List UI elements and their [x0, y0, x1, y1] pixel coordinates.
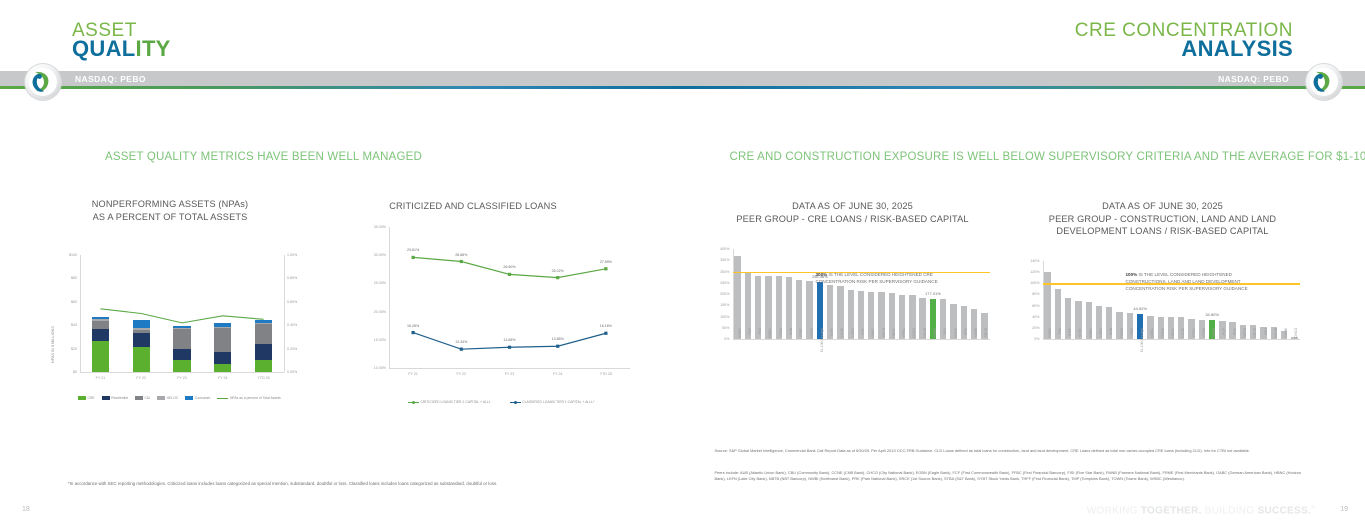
cre_peer-xtick: PRK: [964, 328, 968, 356]
cre_peer-ytick: 100%: [716, 315, 730, 319]
chart-npa-xtick: FY 22: [125, 376, 157, 380]
cld_peer-xtick: FRME: [1161, 328, 1165, 356]
cld_peer-xtick: NBTB: [1243, 328, 1247, 356]
cld_peer-ytick: 40%: [1026, 315, 1040, 319]
chart-criticized-data-label: 27.59%: [595, 260, 617, 264]
cld_peer-xtick: FISI: [1058, 328, 1062, 356]
cre_peer-ytick: 350%: [716, 258, 730, 262]
chart-criticized-legend-item: CLASSIFIED LOANS/ TIER 1 CAPITAL + ALLL*: [510, 400, 595, 404]
cre_peer-xtick: STBA: [779, 328, 783, 356]
cre_peer-xtick: FISI: [758, 328, 762, 356]
legend-dot: [412, 401, 415, 404]
chart-criticized-data-label: 13.68%: [499, 338, 521, 342]
chart-npa-ytick: $20: [64, 347, 77, 351]
chart-npa-bar-segment: [173, 326, 190, 328]
cre_peer-xtick: HBNC: [892, 328, 896, 356]
chart-npa-y2tick: 1.00%: [287, 253, 297, 257]
chart-npa-bar-segment: [214, 352, 231, 363]
chart-npa-legend-item: HELOC: [157, 396, 178, 400]
chart-npa-bar-segment: [214, 364, 231, 372]
chart-npa-bar-segment: [173, 349, 190, 360]
chart-npa-ytick: $0: [64, 370, 77, 374]
callout-cre-300: 300% IS THE LEVEL CONSIDERED HEIGHTENED …: [816, 272, 991, 286]
cld_peer-ytick: 80%: [1026, 292, 1040, 296]
cre_peer-ytick: 400%: [716, 247, 730, 251]
header-bar-accent-right: [683, 86, 1365, 89]
cld_peer-xtick: CBU: [1264, 328, 1268, 356]
chart-npa-bar-segment: [255, 324, 272, 344]
page-title: ASSET QUALITY: [72, 22, 171, 60]
chart-npa-bar-segment: [92, 321, 109, 329]
chart-npa-ytick: $60: [64, 300, 77, 304]
legend-label: CLASSIFIED LOANS/ TIER 1 CAPITAL + ALLL*: [522, 400, 594, 404]
page-title-right: CRE CONCENTRATION ANALYSIS: [1075, 22, 1293, 60]
chart-npa-y2tick: 0.80%: [287, 276, 297, 280]
cre_peer-xtick: FRME: [954, 328, 958, 356]
cld_peer-xtick: CHCO: [1294, 328, 1298, 356]
chart-npa-bar-segment: [92, 319, 109, 320]
chart-npa-bar-segment: [92, 329, 109, 341]
cre_peer-xtick: FMNB: [923, 328, 927, 356]
section-title-asset-quality: ASSET QUALITY METRICS HAVE BEEN WELL MAN…: [105, 151, 422, 163]
chart-criticized-legend-item: CRITICIZED LOANS/ TIER 1 CAPITAL + ALLL: [408, 400, 491, 404]
cld_peer-xtick: NWBI: [1284, 328, 1288, 356]
chart-title-criticized: CRITICIZED AND CLASSIFIED LOANS: [348, 200, 598, 213]
chart-criticized-data-label: 13.34%: [450, 340, 472, 344]
cld_peer-xtick: PRK: [1233, 328, 1237, 356]
cld_peer-xtick: EGBN: [1048, 328, 1052, 356]
chart-npa-bar-segment: [133, 320, 150, 328]
ticker-label-right: NASDAQ: PEBO: [1218, 74, 1289, 84]
chart-npa-bar-segment: [133, 333, 150, 348]
chart-npa-bar-segment: [255, 320, 272, 323]
cld_peer-xtick: $1-10B Average: [1140, 328, 1144, 356]
legend-dot: [514, 401, 517, 404]
chart-criticized-data-label: 13.86%: [547, 337, 569, 341]
cld_peer-ytick: 100%: [1026, 281, 1040, 285]
cld_peer-xtick: FFBC: [1192, 328, 1196, 356]
chart-npa-bar-segment: [92, 317, 109, 319]
cld_peer-xtick: THFF: [1068, 328, 1072, 356]
chart-npa-bar-segment: [214, 327, 231, 328]
cre_peer-ytick: 50%: [716, 326, 730, 330]
chart-npa-bar-segment: [255, 360, 272, 372]
chart-npa-bar-segment: [133, 347, 150, 372]
legend-swatch: [185, 396, 193, 399]
legend-line-swatch: [510, 402, 521, 403]
legend-swatch: [157, 396, 165, 399]
source-note: Source: S&P Global Market Intelligence, …: [715, 448, 1310, 454]
cre_peer-xtick: THFF: [830, 328, 834, 356]
chart-npa-bar-segment: [214, 323, 231, 327]
legend-swatch: [78, 396, 86, 399]
legend-line-swatch: [217, 398, 228, 399]
chart-npa-xtick: FY 21: [84, 376, 116, 380]
cre_peer-xtick: $1-10B Average: [820, 328, 824, 356]
legend-swatch: [135, 396, 143, 399]
chart-npa-y2tick: 0.60%: [287, 300, 297, 304]
cld_peer-xtick: WSBC: [1089, 328, 1093, 356]
legend-swatch: [102, 396, 110, 399]
cre_peer-yaxis: [733, 249, 734, 339]
cre_peer-ytick: 150%: [716, 303, 730, 307]
cre_peer-xtick: AUB: [789, 328, 793, 356]
cre_peer-xtick: FCF: [861, 328, 865, 356]
cld_peer-xtick: CCNE: [1181, 328, 1185, 356]
chart-criticized-lines: [355, 215, 640, 390]
legend-label: CRE: [88, 396, 95, 400]
chart-npa-bar-segment: [255, 323, 272, 324]
cre_peer-xtick: LKFN: [851, 328, 855, 356]
chart-criticized-data-label: 16.16%: [595, 324, 617, 328]
chart-npa-legend-item: Consumer: [185, 396, 210, 400]
cre_peer-xtick: SRCE: [984, 328, 988, 356]
legend-label: NPAs as a percent of Total Assets: [230, 396, 281, 400]
cld_peer-xtick: TMP: [1130, 328, 1134, 356]
chart-criticized-data-label: 28.88%: [450, 253, 472, 257]
chart-npa: NPAS IN $ MILLIONS $0$20$40$60$80$1000.0…: [48, 245, 318, 390]
cre_peer-xtick: CHCO: [912, 328, 916, 356]
cre_peer-xtick: TMP: [748, 328, 752, 356]
cre_peer-xtick: CBU: [943, 328, 947, 356]
chart-npa-ytick: $80: [64, 276, 77, 280]
cld_peer-yaxis: [1043, 261, 1044, 339]
cre_peer-data-label: 177.01%: [921, 291, 945, 296]
slide-asset-quality: ASSET QUALITY NASDAQ: PEBO ASSET QUALITY…: [0, 0, 683, 531]
legend-label: Residential: [111, 396, 128, 400]
chart-npa-xtick: YTD 25: [248, 376, 280, 380]
cre_peer-ytick: 250%: [716, 281, 730, 285]
cld_peer-data-label: 44.52%: [1128, 306, 1152, 311]
header-bar-accent: [0, 86, 683, 89]
cre_peer-xtick: GABC: [871, 328, 875, 356]
chart-criticized-legend: CRITICIZED LOANS/ TIER 1 CAPITAL + ALLLC…: [408, 400, 606, 404]
chart-npa-xtick: FY 24: [207, 376, 239, 380]
cld_peer-xtick: SYBT: [1078, 328, 1082, 356]
page-title-line2: QUALITY: [72, 39, 171, 59]
cre_peer-xtick: EGBN: [738, 328, 742, 356]
chart-title-npa: NONPERFORMING ASSETS (NPAs) AS A PERCENT…: [55, 198, 285, 223]
cld_peer-data-label: 34.80%: [1200, 312, 1224, 317]
callout-cld-100: 100% IS THE LEVEL CONSIDERED HEIGHTENED …: [1126, 272, 1311, 293]
cre_peer-bar: [734, 256, 740, 339]
chart-npa-bar-segment: [133, 330, 150, 333]
slide-cre-concentration: CRE CONCENTRATION ANALYSIS NASDAQ: PEBO …: [683, 0, 1365, 531]
cre_peer-xtick: PEBO: [933, 328, 937, 356]
chart-npa-ytick: $40: [64, 323, 77, 327]
chart-npa-xaxis: [80, 372, 284, 373]
cld_peer-ytick: 60%: [1026, 304, 1040, 308]
chart-npa-bar-segment: [173, 328, 190, 349]
chart-npa-bar-segment: [255, 344, 272, 360]
chart-criticized-data-label: 26.02%: [547, 269, 569, 273]
cre_peer-xtick: SYBT: [799, 328, 803, 356]
chart-npa-y2tick: 0.20%: [287, 347, 297, 351]
chart-npa-ylabel: NPAS IN $ MILLIONS: [51, 326, 55, 363]
chart-npa-legend-item: Residential: [102, 396, 128, 400]
chart-npa-y2tick: 0.40%: [287, 323, 297, 327]
legend-line-swatch: [408, 402, 419, 403]
cre_peer-xtick: NBTB: [882, 328, 886, 356]
cld_peer-xtick: LKFN: [1099, 328, 1103, 356]
chart-npa-bar-segment: [173, 360, 190, 372]
tagline: WORKING TOGETHER. BUILDING SUCCESS.®: [1087, 505, 1315, 516]
chart-npa-bar-segment: [214, 328, 231, 353]
legend-label: CRITICIZED LOANS/ TIER 1 CAPITAL + ALLL: [421, 400, 491, 404]
chart-npa-y2tick: 0.00%: [287, 370, 297, 374]
section-title-cre: CRE AND CONSTRUCTION EXPOSURE IS WELL BE…: [730, 151, 1365, 163]
chart-criticized-data-label: 26.60%: [499, 265, 521, 269]
chart-npa-bar-segment: [173, 328, 190, 329]
chart-npa-yaxis: [80, 255, 81, 372]
cre_peer-xtick: CCNE: [840, 328, 844, 356]
legend-label: HELOC: [167, 396, 179, 400]
legend-label: Consumer: [195, 396, 211, 400]
chart-cre-peer: 0%50%100%150%200%250%300%350%400%EGBNTMP…: [711, 243, 996, 383]
cld_peer-xtick: TOWN: [1120, 328, 1124, 356]
chart-criticized-data-label: 16.28%: [402, 324, 424, 328]
cre_peer-xtick: TOWN: [810, 328, 814, 356]
footnote-left: *In accordance with SEC reporting method…: [68, 481, 588, 488]
page-number-right: 19: [1340, 506, 1348, 513]
chart-npa-legend-item-line: NPAs as a percent of Total Assets: [217, 396, 280, 400]
chart-criticized: 10.00%15.00%20.00%25.00%30.00%35.00%FY 2…: [355, 215, 640, 390]
cld_peer-xtick: PEBO: [1212, 328, 1216, 356]
cld_peer-xtick: FCF: [1222, 328, 1226, 356]
pebo-logo-icon-right: [1306, 64, 1342, 100]
cld_peer-xtick: SRCE: [1253, 328, 1257, 356]
page-number-left: 18: [22, 506, 30, 513]
cre_peer-xtick: NWBI: [974, 328, 978, 356]
chart-npa-ytick: $100: [64, 253, 77, 257]
chart-npa-xtick: FY 23: [166, 376, 198, 380]
cld_peer-xtick: AUB: [1109, 328, 1113, 356]
cre_peer-ytick: 300%: [716, 270, 730, 274]
cld_peer-xtick: HBNC: [1171, 328, 1175, 356]
chart-npa-legend-item: C&I: [135, 396, 150, 400]
cre_peer-ytick: 0%: [716, 337, 730, 341]
cld_peer-ytick: 20%: [1026, 326, 1040, 330]
ticker-label: NASDAQ: PEBO: [75, 74, 146, 84]
peers-note: Peers include: AUB (Atlantic Union Bank)…: [715, 470, 1310, 483]
chart-npa-yaxis2: [284, 255, 285, 372]
cre_peer-ytick: 200%: [716, 292, 730, 296]
chart-title-cre-peer: DATA AS OF JUNE 30, 2025 PEER GROUP - CR…: [708, 200, 998, 225]
cld_peer-ytick: 0%: [1026, 337, 1040, 341]
chart-criticized-data-label: 29.61%: [402, 248, 424, 252]
chart-npa-bar-segment: [133, 328, 150, 330]
cld_peer-xtick: GABC: [1150, 328, 1154, 356]
cre_peer-xtick: WSBC: [768, 328, 772, 356]
page-title-right-line2: ANALYSIS: [1075, 39, 1293, 59]
chart-npa-legend-item: CRE: [78, 396, 95, 400]
pebo-logo-icon: [25, 64, 61, 100]
chart-npa-bar-segment: [92, 341, 109, 372]
legend-label: C&I: [144, 396, 150, 400]
cre_peer-xtick: FFBC: [902, 328, 906, 356]
cld_peer-ytick: 140%: [1026, 259, 1040, 263]
chart-title-cld-peer: DATA AS OF JUNE 30, 2025 PEER GROUP - CO…: [1013, 200, 1313, 238]
cld_peer-ytick: 120%: [1026, 270, 1040, 274]
cld_peer-xtick: STBA: [1202, 328, 1206, 356]
chart-npa-legend: CREResidentialC&IHELOCConsumerNPAs as a …: [78, 396, 281, 400]
cld_peer-xtick: FMNB: [1274, 328, 1278, 356]
